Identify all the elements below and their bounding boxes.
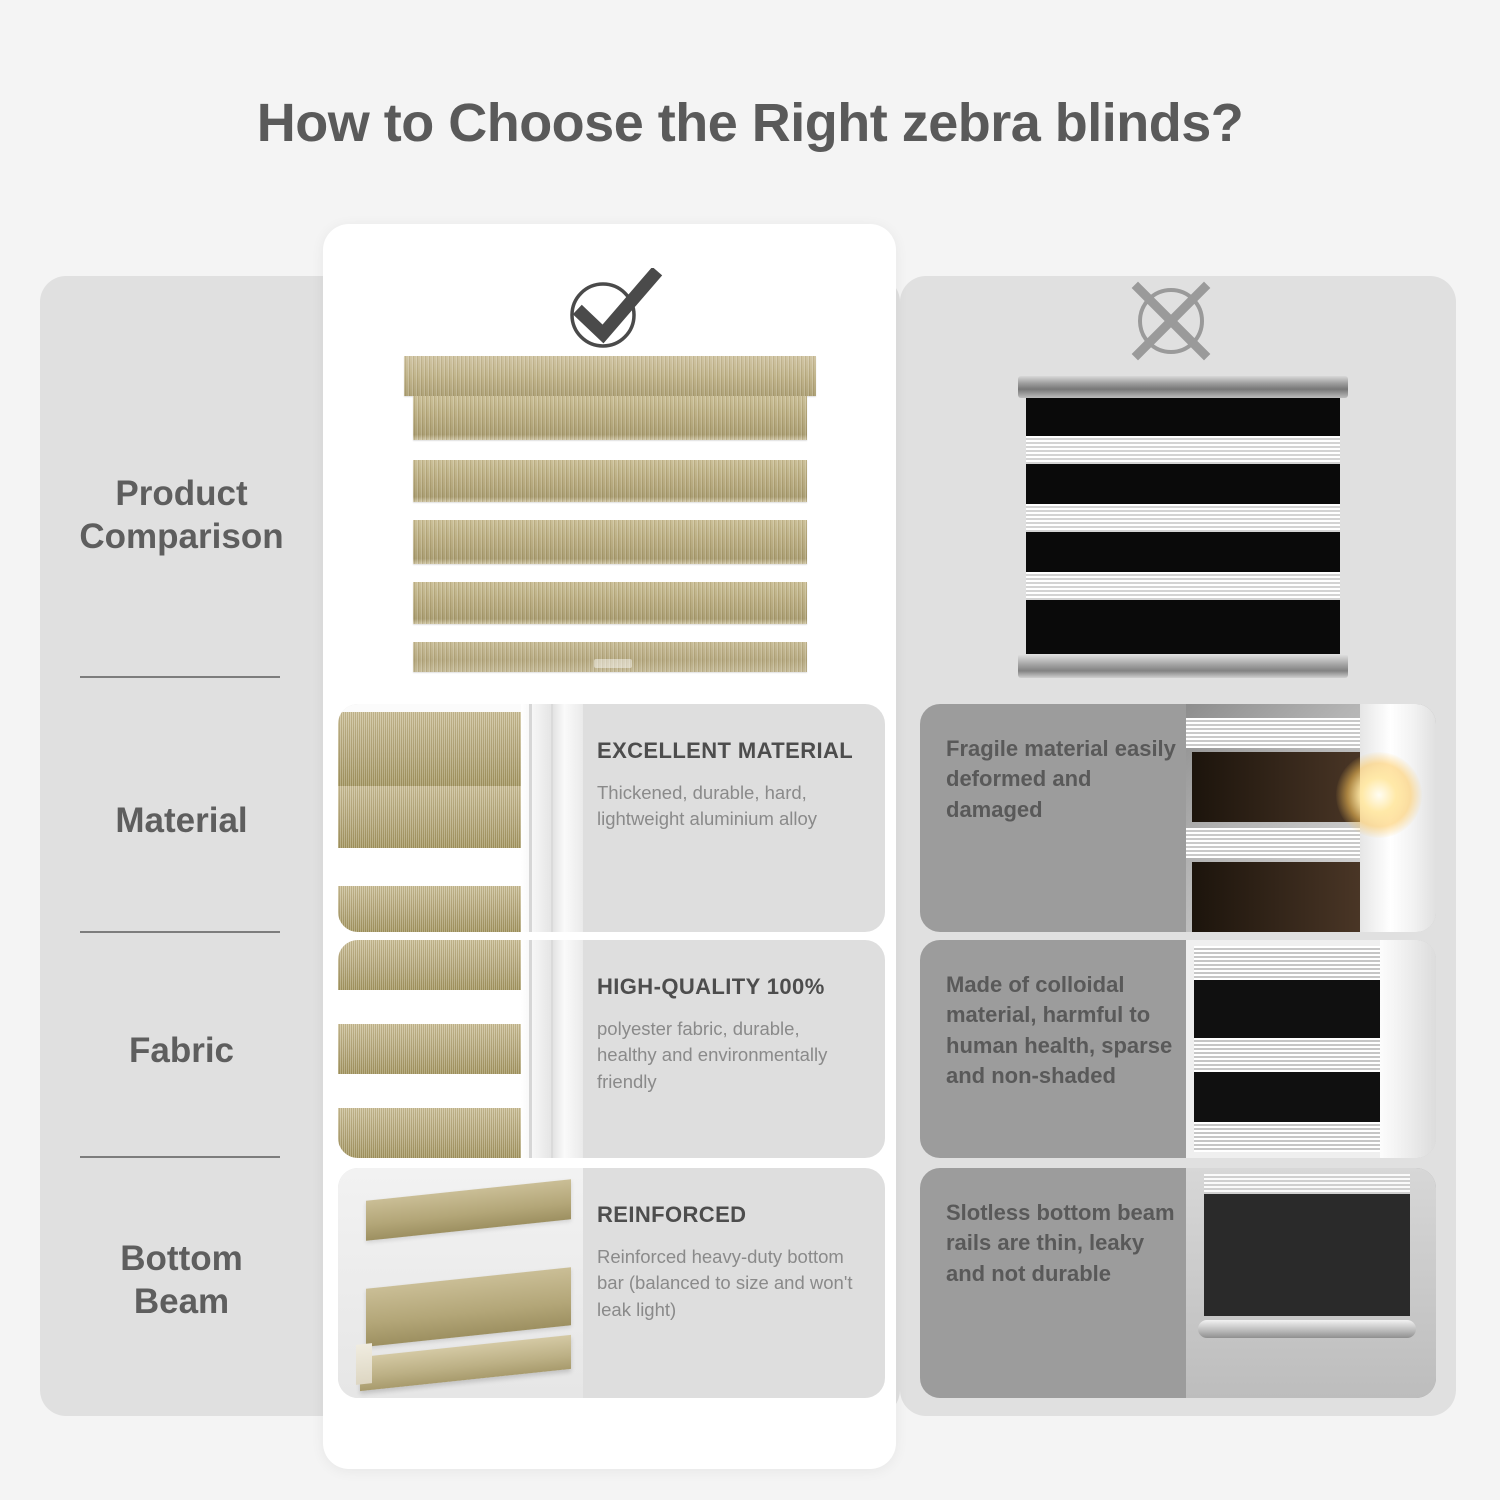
feature-title: REINFORCED [597, 1202, 863, 1228]
sidebar-row-fabric: Fabric [40, 976, 323, 1126]
sidebar-label: Fabric [129, 1030, 234, 1073]
blind-slat [413, 396, 807, 440]
feature-body: Fragile material easily deformed and dam… [946, 734, 1176, 825]
sheer-band [1026, 504, 1340, 532]
bad-feature-card-fabric: Made of colloidal material, harmful to h… [920, 940, 1436, 1158]
feature-title: HIGH-QUALITY 100% [597, 974, 863, 1000]
sparse-colloidal-fabric-photo [1186, 940, 1436, 1158]
sidebar-label: Material [115, 800, 247, 843]
bad-feature-card-material: Fragile material easily deformed and dam… [920, 704, 1436, 932]
feature-title: EXCELLENT MATERIAL [597, 738, 863, 764]
tan-blind-fabric-closeup-photo [338, 940, 583, 1158]
blind-slat [413, 582, 807, 624]
page-title: How to Choose the Right zebra blinds? [0, 92, 1500, 154]
bad-feature-card-bottom-beam: Slotless bottom beam rails are thin, lea… [920, 1168, 1436, 1398]
blind-slat [413, 520, 807, 564]
sidebar-divider [80, 931, 280, 933]
good-feature-card-material: EXCELLENT MATERIAL Thickened, durable, h… [338, 704, 885, 932]
good-feature-card-bottom-beam: REINFORCED Reinforced heavy-duty bottom … [338, 1168, 885, 1398]
good-hero-product-image [404, 356, 816, 696]
sidebar-divider [80, 676, 280, 678]
thin-bottom-rail-photo [1186, 1168, 1436, 1398]
feature-body: Slotless bottom beam rails are thin, lea… [946, 1198, 1176, 1289]
tan-blind-window-frame-photo [338, 704, 583, 932]
sidebar-label: Product Comparison [79, 473, 283, 558]
check-circle-icon [555, 268, 665, 353]
sheer-band [1026, 572, 1340, 600]
cross-circle-icon [1118, 278, 1224, 364]
blind-slat [413, 460, 807, 502]
feature-body: Thickened, durable, hard, lightweight al… [597, 780, 862, 833]
headrail [1018, 376, 1348, 398]
feature-body: Reinforced heavy-duty bottom bar (balanc… [597, 1244, 862, 1323]
sidebar-row-material: Material [40, 746, 323, 896]
feature-body: polyester fabric, durable, healthy and e… [597, 1016, 862, 1095]
reinforced-bottom-bar-photo [338, 1168, 583, 1398]
sidebar-label: Bottom Beam [120, 1238, 242, 1323]
sidebar-row-bottom-beam: Bottom Beam [40, 1196, 323, 1366]
sidebar-divider [80, 1156, 280, 1158]
bottom-rail [1018, 654, 1348, 678]
feature-body: Made of colloidal material, harmful to h… [946, 970, 1176, 1091]
category-sidebar: Product Comparison Material Fabric Botto… [40, 276, 323, 1416]
headrail [404, 356, 816, 396]
sheer-band [1026, 436, 1340, 464]
blind-fabric [1026, 398, 1340, 654]
bottom-bar [413, 642, 807, 672]
sun-glare-deformed-blind-photo [1186, 704, 1436, 932]
bad-hero-product-image [1018, 376, 1348, 676]
sidebar-row-product-comparison: Product Comparison [40, 426, 323, 606]
good-feature-card-fabric: HIGH-QUALITY 100% polyester fabric, dura… [338, 940, 885, 1158]
